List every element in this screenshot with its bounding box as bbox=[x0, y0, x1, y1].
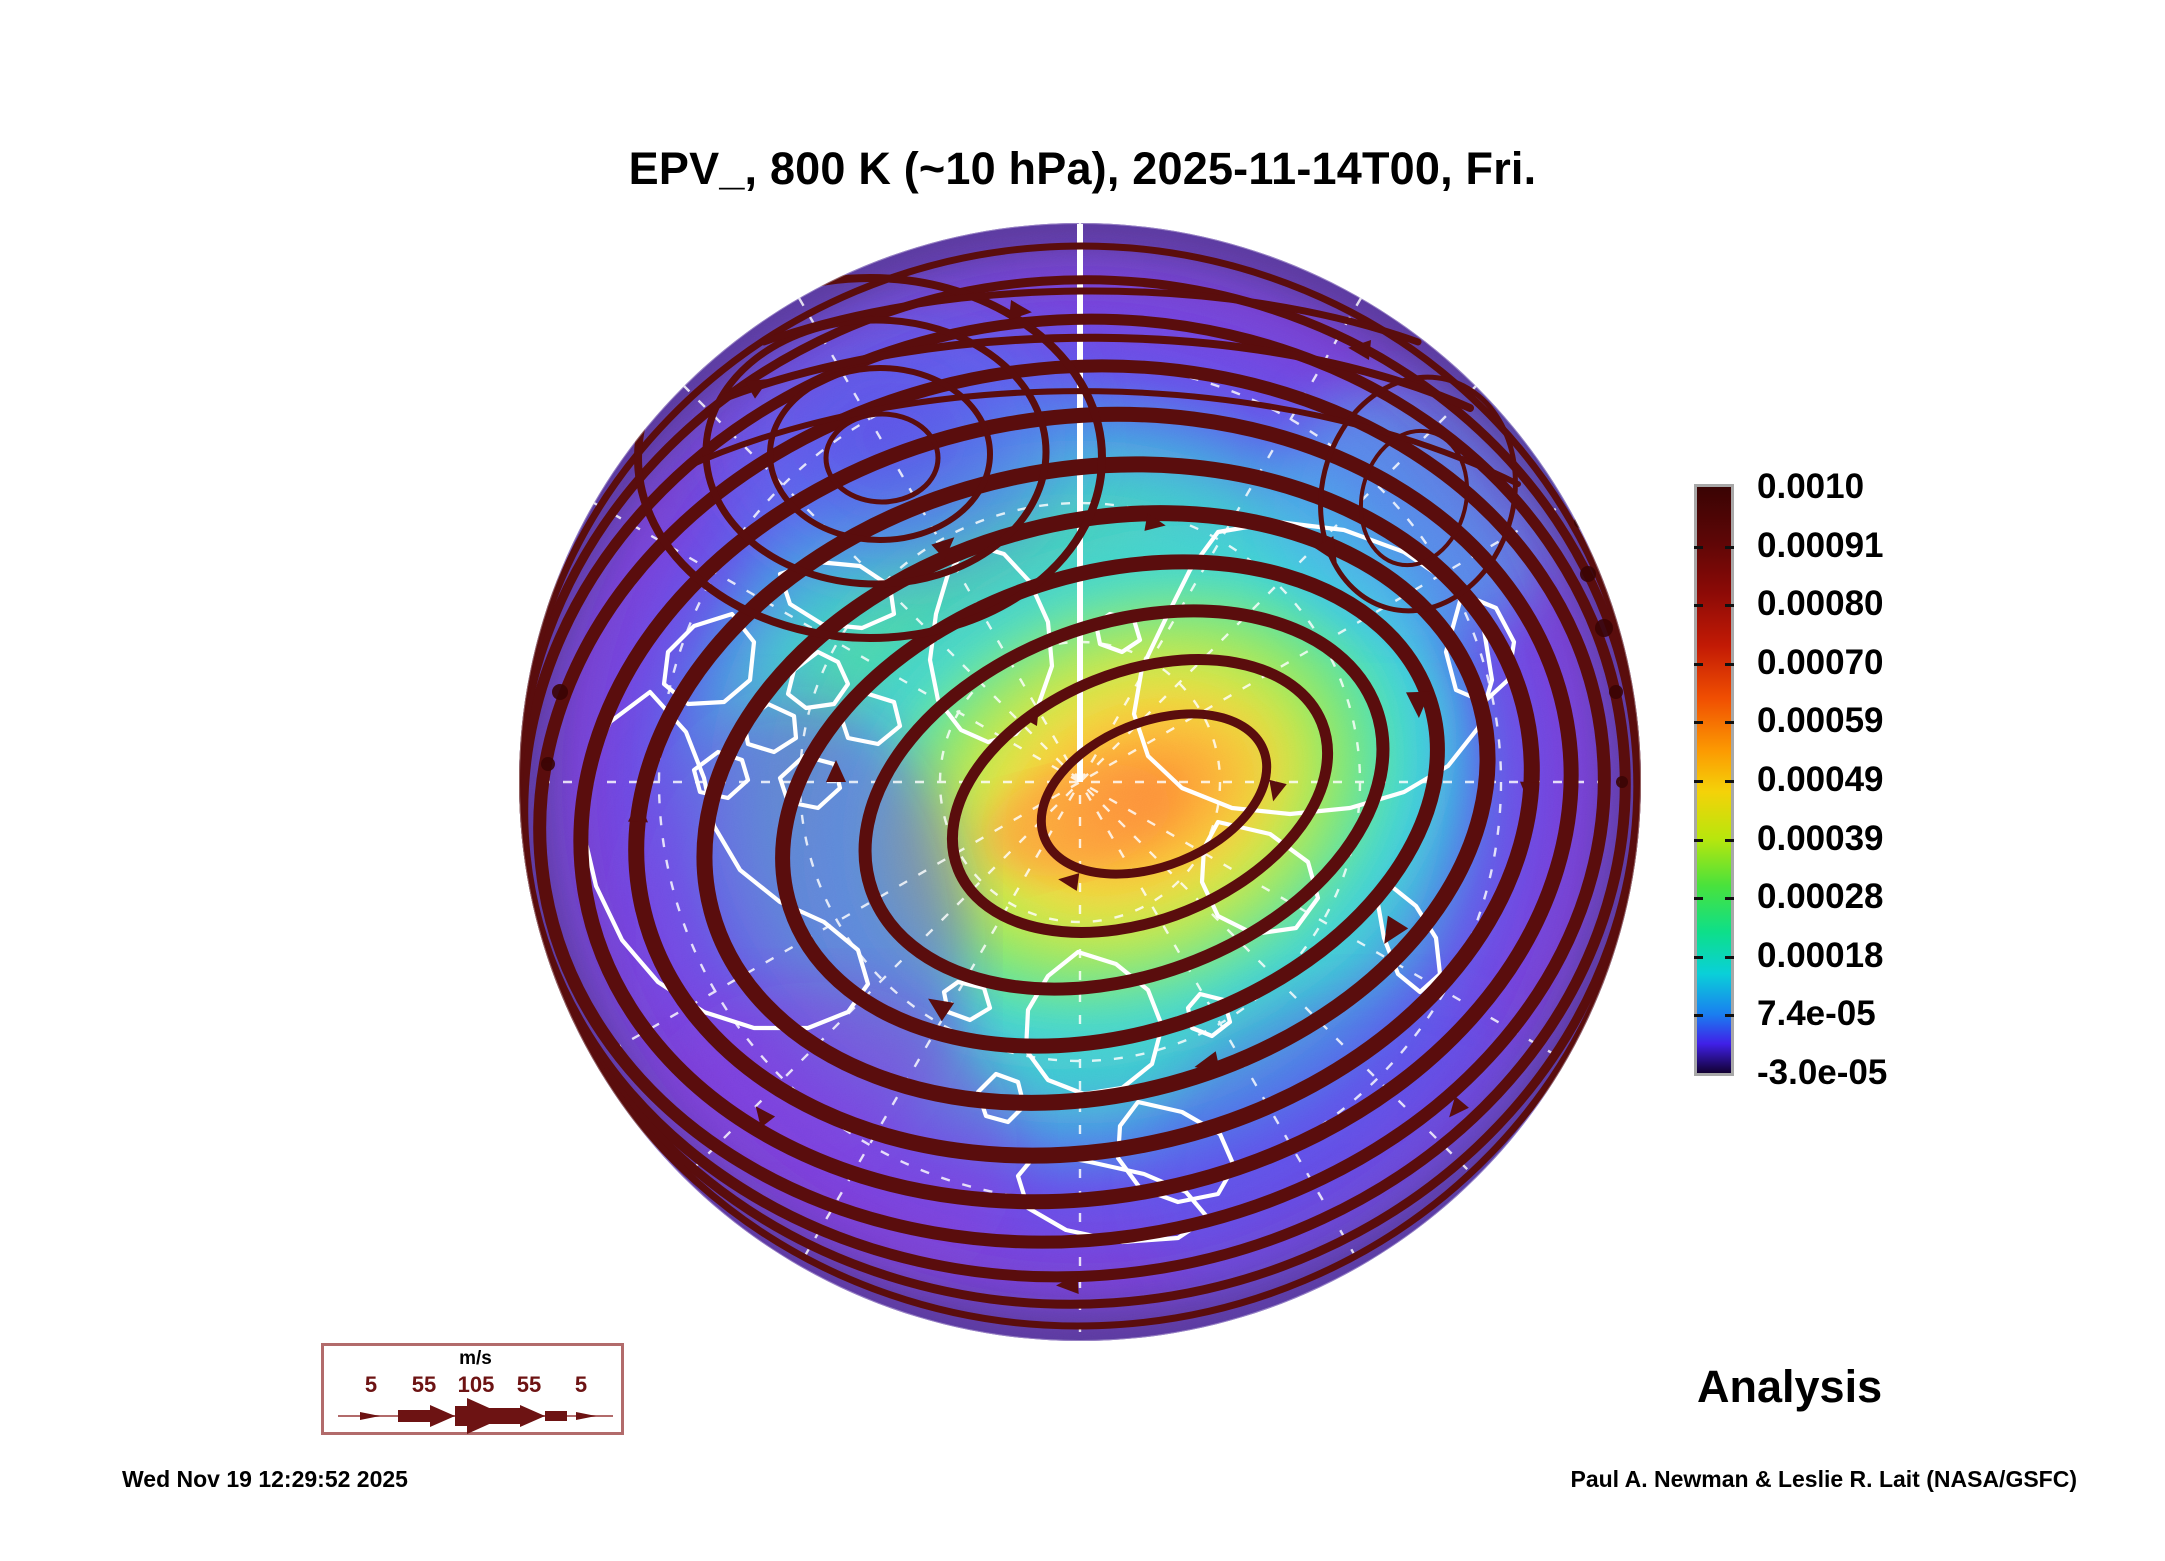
colorbar-tick-label: 0.00028 bbox=[1757, 877, 1884, 917]
colorbar-tick bbox=[1694, 604, 1703, 607]
generation-timestamp: Wed Nov 19 12:29:52 2025 bbox=[122, 1466, 408, 1493]
colorbar-tick-label: 0.00018 bbox=[1757, 936, 1884, 976]
colorbar-tick bbox=[1725, 956, 1734, 959]
colorbar[interactable]: 0.00100.000910.000800.000700.000590.0004… bbox=[1694, 484, 2114, 1084]
wind-tick-labels: 555105555 bbox=[324, 1372, 627, 1396]
colorbar-tick bbox=[1725, 1014, 1734, 1017]
colorbar-tick-label: 0.00091 bbox=[1757, 526, 1884, 566]
analysis-label: Analysis bbox=[1697, 1361, 1882, 1413]
wind-speed-legend[interactable]: m/s 555105555 bbox=[321, 1343, 624, 1435]
page-title: EPV_, 800 K (~10 hPa), 2025-11-14T00, Fr… bbox=[0, 143, 2165, 195]
wind-arrow-svg bbox=[324, 1398, 627, 1434]
colorbar-tick-label: 0.00070 bbox=[1757, 643, 1884, 683]
colorbar-tick bbox=[1694, 1014, 1703, 1017]
wind-tick-label: 55 bbox=[517, 1372, 541, 1398]
colorbar-tick bbox=[1725, 663, 1734, 666]
wind-tick-label: 55 bbox=[412, 1372, 436, 1398]
colorbar-tick bbox=[1694, 839, 1703, 842]
colorbar-tick bbox=[1725, 546, 1734, 549]
polar-map[interactable] bbox=[518, 222, 1642, 1342]
wind-arrow-scale bbox=[324, 1398, 627, 1434]
wind-tick-label: 105 bbox=[458, 1372, 495, 1398]
colorbar-tick-label: 0.00039 bbox=[1757, 819, 1884, 859]
wind-tick-label: 5 bbox=[365, 1372, 377, 1398]
colorbar-tick bbox=[1694, 721, 1703, 724]
colorbar-tick-label: 0.0010 bbox=[1757, 467, 1864, 507]
colorbar-labels: 0.00100.000910.000800.000700.000590.0004… bbox=[1757, 484, 2107, 1076]
colorbar-tick bbox=[1725, 604, 1734, 607]
colorbar-tick bbox=[1694, 780, 1703, 783]
colorbar-tick bbox=[1694, 897, 1703, 900]
colorbar-tick bbox=[1694, 546, 1703, 549]
author-credit: Paul A. Newman & Leslie R. Lait (NASA/GS… bbox=[1570, 1466, 2077, 1493]
colorbar-ticks bbox=[1694, 484, 1734, 1076]
colorbar-tick bbox=[1694, 663, 1703, 666]
colorbar-tick-label: 0.00080 bbox=[1757, 584, 1884, 624]
colorbar-tick bbox=[1725, 897, 1734, 900]
colorbar-tick-label: 7.4e-05 bbox=[1757, 994, 1876, 1034]
colorbar-tick-label: 0.00059 bbox=[1757, 701, 1884, 741]
map-field bbox=[518, 222, 1642, 1342]
polar-map-svg bbox=[518, 222, 1642, 1342]
colorbar-tick-label: -3.0e-05 bbox=[1757, 1053, 1887, 1093]
colorbar-tick bbox=[1694, 956, 1703, 959]
colorbar-tick bbox=[1725, 780, 1734, 783]
wind-unit-label: m/s bbox=[324, 1348, 627, 1370]
colorbar-tick-label: 0.00049 bbox=[1757, 760, 1884, 800]
figure-canvas: EPV_, 800 K (~10 hPa), 2025-11-14T00, Fr… bbox=[0, 0, 2165, 1561]
colorbar-tick bbox=[1725, 721, 1734, 724]
wind-tick-label: 5 bbox=[575, 1372, 587, 1398]
colorbar-tick bbox=[1725, 839, 1734, 842]
